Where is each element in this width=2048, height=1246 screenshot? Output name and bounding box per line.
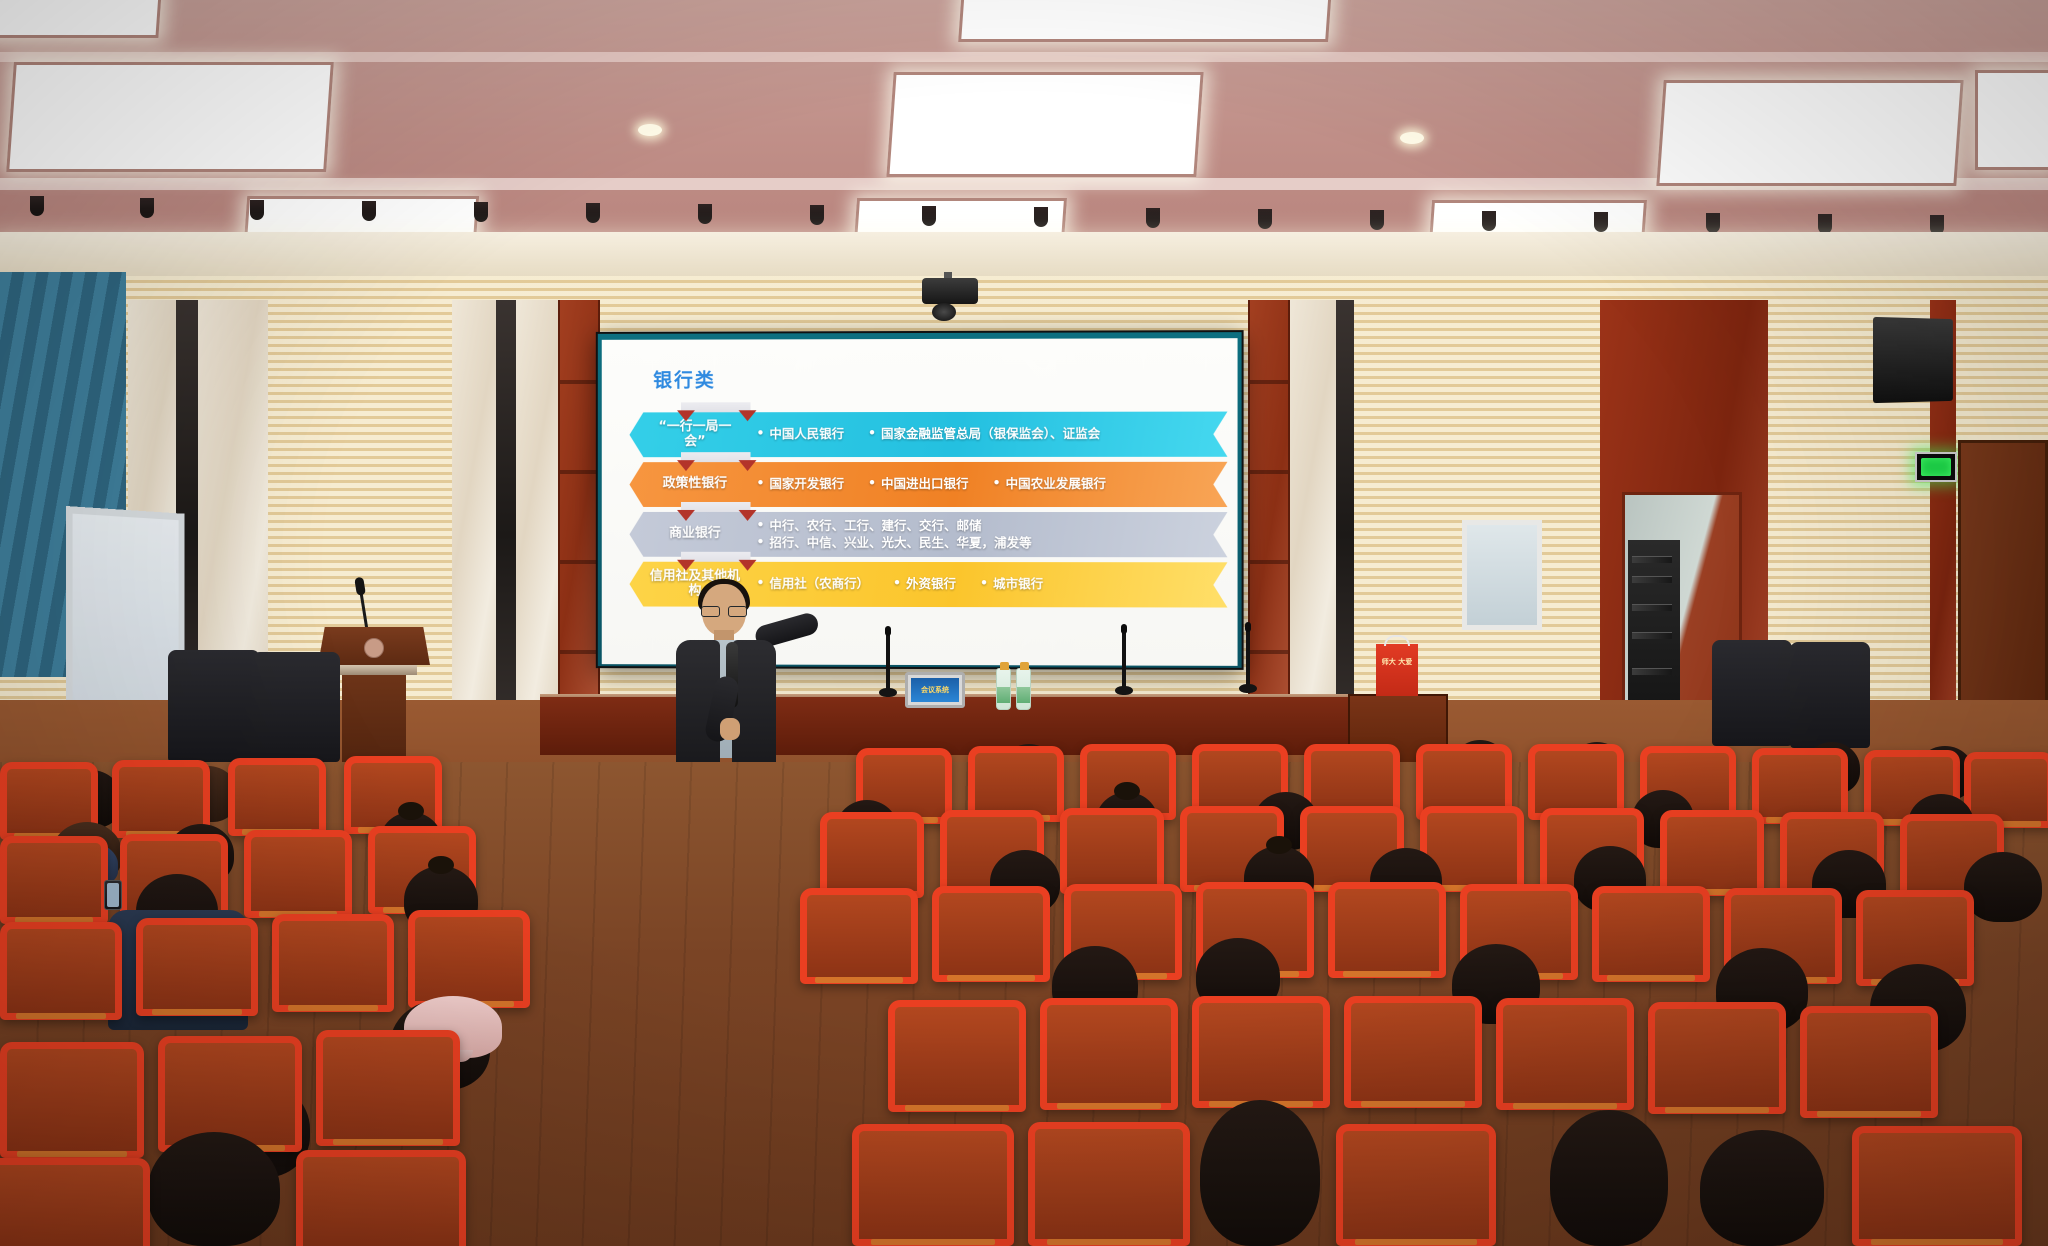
gift-bag-text: 师大 大爱: [1376, 658, 1418, 666]
row-chevron: 政策性银行 国家开发银行 中国进出口银行 中国农业发展银行: [629, 462, 1227, 507]
auditorium-seat[interactable]: [1852, 1126, 2022, 1246]
row-items: 国家开发银行 中国进出口银行 中国农业发展银行: [741, 476, 1228, 493]
smartphone[interactable]: [104, 880, 122, 910]
auditorium-seat[interactable]: [0, 1042, 144, 1158]
row-notch-right-icon: [739, 510, 757, 521]
ceiling-light-panel: [6, 62, 334, 172]
auditorium-seat[interactable]: [888, 1000, 1026, 1112]
ceiling-downlight: [638, 124, 662, 136]
ceiling-spot-light: [810, 205, 824, 225]
ceiling-spot-light: [1706, 213, 1720, 233]
auditorium-seat[interactable]: [1060, 808, 1164, 894]
row-item: 国家金融监管总局（银保监会）、证监会: [866, 426, 1100, 443]
slide-row: 政策性银行 国家开发银行 中国进出口银行 中国农业发展银行: [629, 461, 1227, 508]
auditorium-seat[interactable]: [272, 914, 394, 1012]
rack-unit: [1632, 576, 1672, 583]
audience-head: [1700, 1130, 1824, 1246]
ceiling-spot-light: [586, 203, 600, 223]
audience-head: [1964, 852, 2042, 922]
presenter-jacket-right: [732, 640, 776, 780]
audience-head: [1550, 1110, 1668, 1246]
exit-sign: [1915, 452, 1957, 482]
auditorium-seat[interactable]: [1328, 882, 1446, 978]
row-notch-left-icon: [677, 510, 695, 521]
row-label: 商业银行: [649, 527, 740, 542]
bottle-label: [1017, 687, 1030, 703]
auditorium-seat[interactable]: [296, 1150, 466, 1246]
row-items: 中国人民银行 国家金融监管总局（银保监会）、证监会: [741, 426, 1228, 443]
row-label: 政策性银行: [649, 477, 740, 492]
stage-chair: [1790, 642, 1870, 748]
rack-unit: [1632, 604, 1672, 611]
row-items: 信用社（农商行） 外资银行 城市银行: [741, 576, 1228, 594]
row-notch-right-icon: [739, 410, 757, 421]
auditorium-seat[interactable]: [1648, 1002, 1786, 1114]
row-item: 中国农业发展银行: [991, 476, 1106, 493]
row-label: “一行一局一会”: [649, 420, 740, 449]
gift-bag-handle-icon: [1384, 635, 1410, 646]
row-chevron: “一行一局一会” 中国人民银行 国家金融监管总局（银保监会）、证监会: [629, 412, 1227, 458]
auditorium-seat[interactable]: [1344, 996, 1482, 1108]
row-chevron: 商业银行 中行、农行、工行、建行、交行、邮储 招行、中信、兴业、光大、民生、华夏…: [629, 512, 1227, 557]
ceiling-downlight: [1400, 132, 1424, 144]
table-microphone: [1122, 630, 1126, 688]
podium-trim: [331, 665, 417, 675]
row-notch-right-icon: [739, 560, 757, 571]
ceiling: [0, 0, 2048, 250]
stage-chair: [252, 652, 340, 762]
auditorium-seat[interactable]: [0, 922, 122, 1020]
auditorium-seat[interactable]: [1660, 810, 1764, 896]
water-bottle: [1016, 668, 1031, 710]
wall-window-panel: [1462, 520, 1542, 630]
gift-bag: 师大 大爱: [1376, 644, 1418, 696]
ceiling-spot-light: [1370, 210, 1384, 230]
ceiling-spot-light: [1482, 211, 1496, 231]
slide-row: “一行一局一会” 中国人民银行 国家金融监管总局（银保监会）、证监会: [629, 411, 1227, 459]
table-microphone: [886, 632, 890, 690]
ceiling-spot-light: [1034, 207, 1048, 227]
ceiling-light-panel: [886, 72, 1203, 177]
projector-lens-icon: [932, 303, 956, 321]
ceiling-spot-light: [362, 201, 376, 221]
auditorium-seat[interactable]: [1040, 998, 1178, 1110]
auditorium-seat[interactable]: [1496, 998, 1634, 1110]
auditorium-seat[interactable]: [316, 1030, 460, 1146]
row-notch-left-icon: [677, 560, 695, 571]
auditorium-seat[interactable]: [0, 836, 108, 924]
ceiling-spot-light: [30, 196, 44, 216]
table-microphone: [1246, 628, 1250, 686]
podium-emblem-icon: [364, 638, 384, 658]
projector: [922, 278, 978, 304]
rack-unit: [1632, 668, 1672, 675]
auditorium-seat[interactable]: [136, 918, 258, 1016]
glasses-icon: [701, 606, 747, 615]
auditorium-seat[interactable]: [228, 758, 326, 836]
ceiling-spot-light: [1594, 212, 1608, 232]
auditorium-seat[interactable]: [932, 886, 1050, 982]
ceiling-spot-light: [922, 206, 936, 226]
ceiling-spot-light: [698, 204, 712, 224]
ceiling-spot-light: [474, 202, 488, 222]
auditorium-seat[interactable]: [408, 910, 530, 1008]
stage-chair: [1712, 640, 1792, 746]
ceiling-spot-light: [1146, 208, 1160, 228]
auditorium-photo: 银行类 “一行一局一会” 中国人民银行 国家金融监管总局（银保监会）、证监会: [0, 0, 2048, 1246]
auditorium-seat[interactable]: [1192, 996, 1330, 1108]
ceiling-spot-light: [1258, 209, 1272, 229]
wall-speaker: [1873, 317, 1953, 403]
wall-soffit: [0, 232, 2048, 276]
row-item: 招行、中信、兴业、光大、民生、华夏，浦发等: [754, 534, 1031, 551]
rack-unit: [1632, 556, 1672, 563]
row-notch-right-icon: [739, 460, 757, 471]
auditorium-seat[interactable]: [1336, 1124, 1496, 1246]
audience-head: [1200, 1100, 1320, 1246]
ceiling-light-panel: [1975, 70, 2048, 170]
monitor-screen: 会议系统: [911, 678, 959, 702]
ceiling-band-upper: [0, 52, 2048, 62]
auditorium-seat[interactable]: [820, 812, 924, 898]
auditorium-seat[interactable]: [244, 830, 352, 918]
row-item: 国家开发银行: [754, 476, 844, 493]
row-item: 城市银行: [978, 576, 1043, 593]
table-monitor: 会议系统: [905, 672, 965, 708]
auditorium-seat[interactable]: [1028, 1122, 1190, 1246]
row-notch-left-icon: [677, 410, 695, 421]
water-bottle: [996, 668, 1011, 710]
row-items: 中行、农行、工行、建行、交行、邮储 招行、中信、兴业、光大、民生、华夏，浦发等: [741, 518, 1228, 552]
auditorium-seat[interactable]: [0, 1158, 150, 1246]
monitor-text: 会议系统: [921, 686, 949, 694]
auditorium-seat[interactable]: [800, 888, 918, 984]
ceiling-light-panel: [1656, 80, 1963, 186]
row-item: 中国人民银行: [754, 426, 844, 443]
ceiling-spot-light: [250, 200, 264, 220]
ceiling-spot-light: [1818, 214, 1832, 234]
bottle-label: [997, 687, 1010, 703]
exit-sign-glyph: [1921, 458, 1951, 476]
row-item: 外资银行: [891, 576, 956, 593]
ceiling-light-panel: [958, 0, 1332, 42]
presenter-hand: [720, 718, 740, 740]
auditorium-seat[interactable]: [1800, 1006, 1938, 1118]
auditorium-seat[interactable]: [852, 1124, 1014, 1246]
slide-title: 银行类: [653, 365, 716, 392]
stage-chair: [168, 650, 260, 762]
ceiling-spot-light: [140, 198, 154, 218]
auditorium-seat[interactable]: [1592, 886, 1710, 982]
row-item: 中行、农行、工行、建行、交行、邮储: [754, 518, 981, 535]
row-item: 中国进出口银行: [866, 476, 968, 493]
row-notch-left-icon: [677, 460, 695, 471]
audience-head: [148, 1132, 280, 1246]
rack-unit: [1632, 632, 1672, 639]
ceiling-light-panel: [0, 0, 162, 38]
